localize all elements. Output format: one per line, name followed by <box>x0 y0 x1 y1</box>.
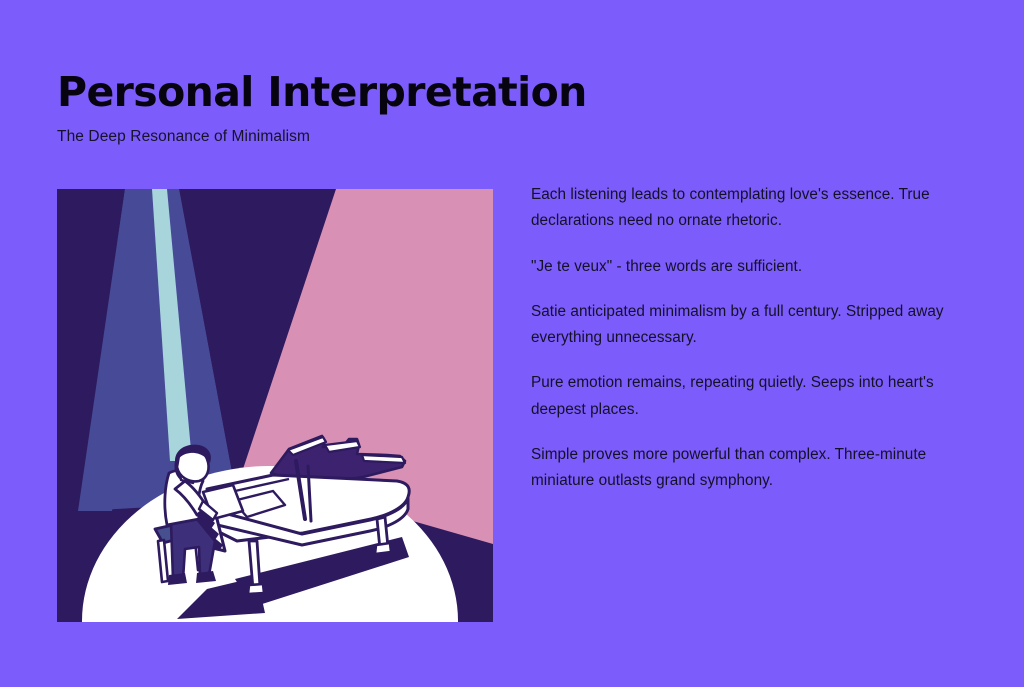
pianist-shoe-back <box>168 573 187 585</box>
body-paragraph: Each listening leads to contemplating lo… <box>531 182 967 235</box>
page-subtitle: The Deep Resonance of Minimalism <box>57 128 310 146</box>
page-title: Personal Interpretation <box>57 69 587 116</box>
piano-lid-tail-highlight <box>362 455 405 463</box>
stage-illustration <box>57 189 493 622</box>
pianist-shoe-front <box>196 571 216 583</box>
body-paragraph: "Je te veux" - three words are sufficien… <box>531 254 967 280</box>
body-paragraph: Simple proves more powerful than complex… <box>531 442 967 495</box>
piano-front-leg-foot <box>248 584 264 594</box>
body-paragraph: Satie anticipated minimalism by a full c… <box>531 299 967 352</box>
body-paragraph: Pure emotion remains, repeating quietly.… <box>531 370 967 423</box>
piano-rear-leg-foot <box>375 543 391 554</box>
illustration-panel <box>57 189 493 622</box>
slide-canvas: Personal Interpretation The Deep Resonan… <box>0 0 1024 687</box>
body-text-column: Each listening leads to contemplating lo… <box>531 182 967 495</box>
